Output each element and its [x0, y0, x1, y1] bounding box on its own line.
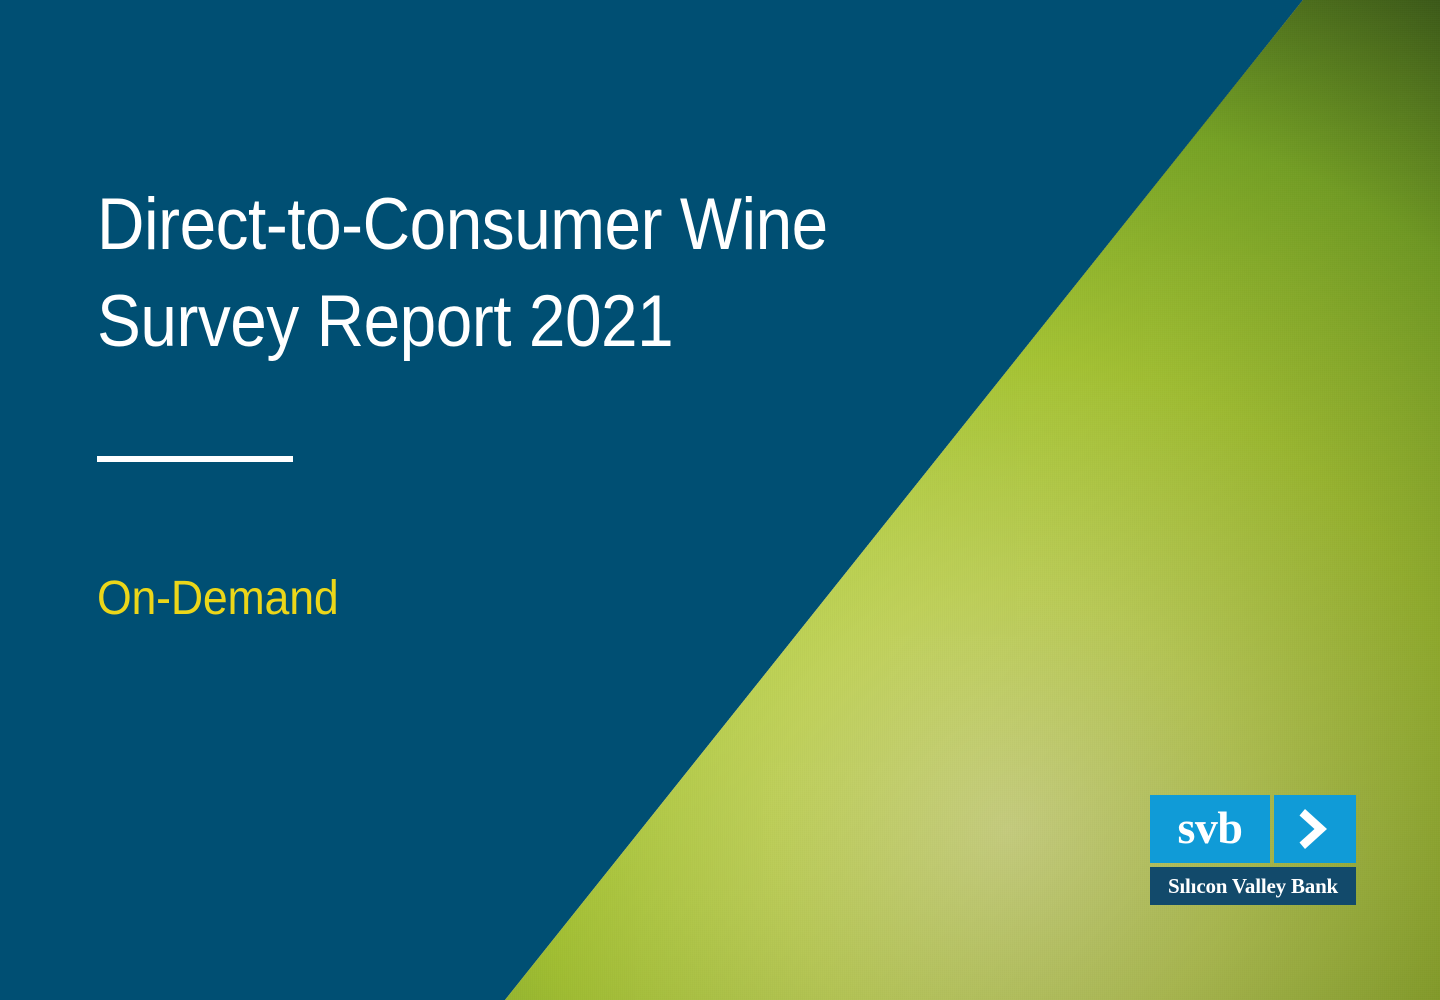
svb-name-bar: Sılıcon Valley Bank	[1150, 867, 1356, 905]
chevron-right-icon	[1298, 807, 1332, 851]
svb-logo[interactable]: svb Sılıcon Valley Bank	[1150, 795, 1356, 905]
rule-divider	[97, 456, 293, 462]
page-title: Direct-to-Consumer Wine Survey Report 20…	[97, 176, 979, 370]
svb-bank-name: Sılıcon Valley Bank	[1168, 876, 1338, 897]
svb-chevron-tile	[1274, 795, 1356, 863]
availability-label: On-Demand	[97, 570, 338, 628]
title-slide: Direct-to-Consumer Wine Survey Report 20…	[0, 0, 1440, 1000]
svb-wordmark: svb	[1178, 805, 1243, 851]
svb-logo-tiles: svb	[1150, 795, 1356, 863]
svb-wordmark-tile: svb	[1150, 795, 1270, 863]
